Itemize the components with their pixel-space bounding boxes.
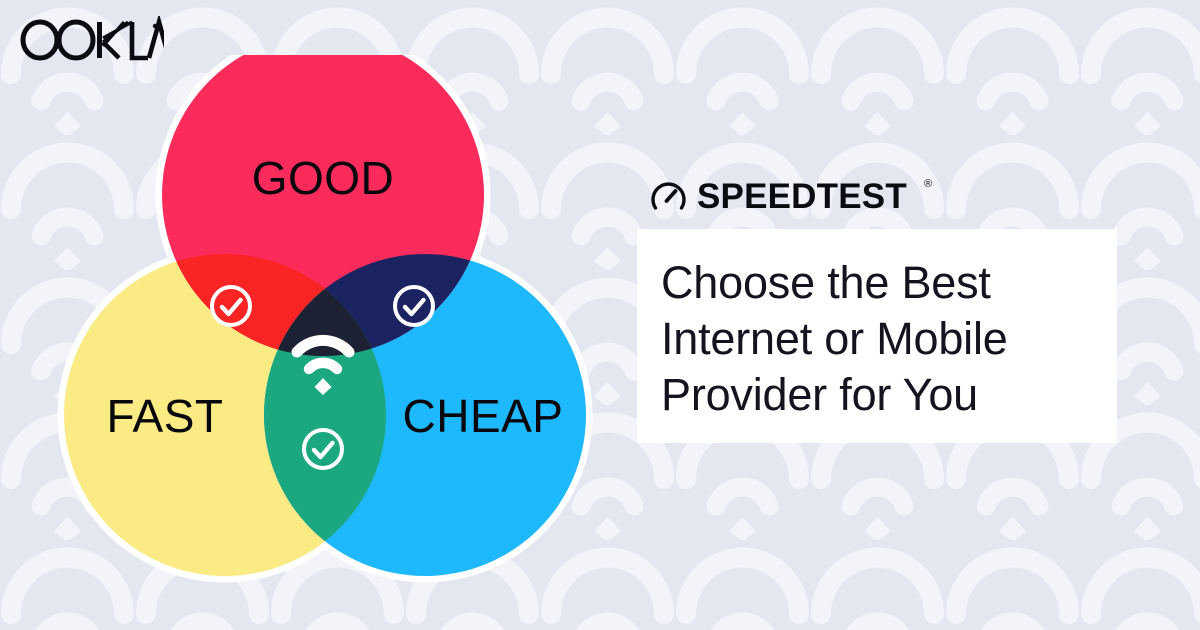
registered-mark: ® [924,178,932,190]
speedtest-logo[interactable]: SPEEDTEST ® [645,170,935,216]
headline-card: Choose the Best Internet or Mobile Provi… [637,229,1117,443]
promo-banner: GOOD FAST CHEAP [0,0,1200,630]
speedtest-wordmark-text: SPEEDTEST [697,177,907,216]
venn-label-good: GOOD [252,152,395,204]
page-title: Choose the Best Internet or Mobile Provi… [661,255,1087,423]
good-fast-cheap-venn-diagram: GOOD FAST CHEAP [45,55,615,595]
ookla-k-glyph [97,22,132,58]
venn-label-cheap: CHEAP [403,390,564,442]
venn-label-fast: FAST [106,390,223,442]
speedometer-icon [653,184,684,208]
speedtest-branding: SPEEDTEST ® [637,168,1127,220]
registered-mark [153,24,157,28]
